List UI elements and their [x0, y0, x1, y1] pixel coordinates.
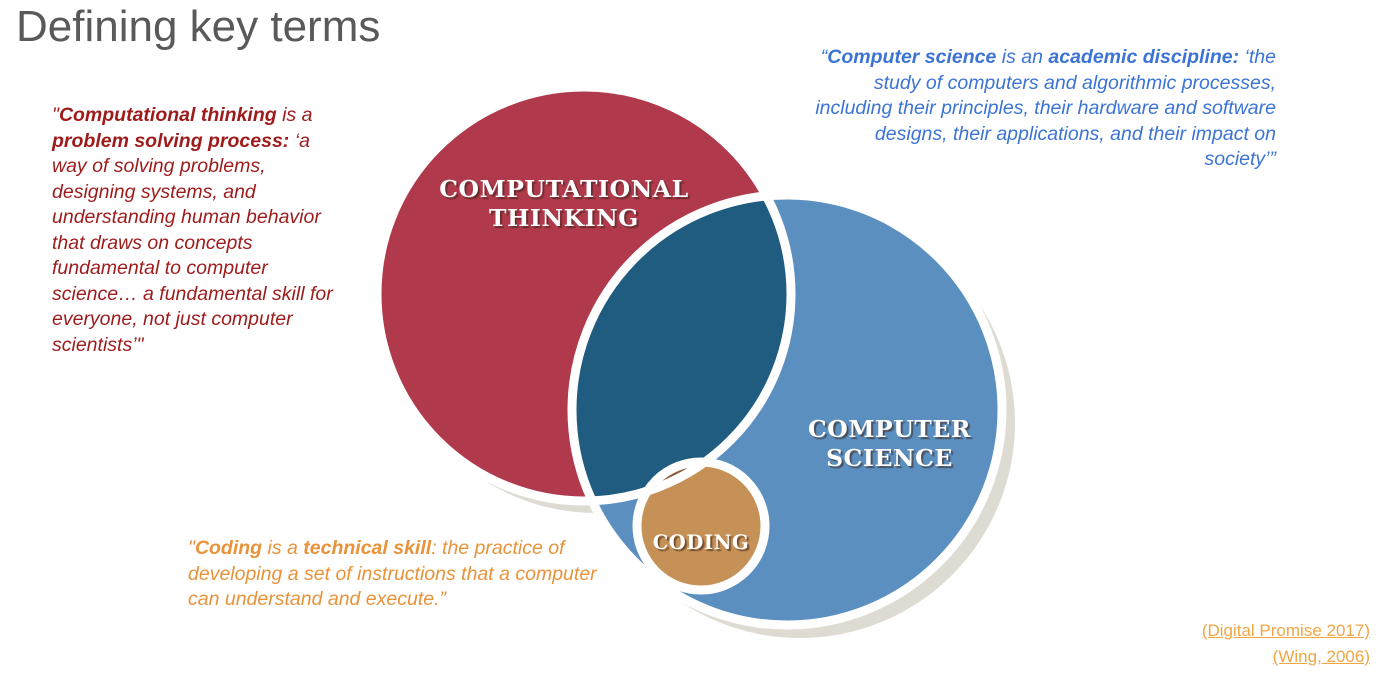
quote-computational-thinking: "Computational thinking is a problem sol…: [52, 103, 340, 358]
quote-cs-bold-term: Computer science: [827, 46, 996, 68]
venn-label-computational-thinking: COMPUTATIONAL THINKING: [389, 175, 739, 232]
citation-list: (Digital Promise 2017) (Wing, 2006): [1202, 618, 1370, 670]
quote-cs-bold-definition: academic discipline:: [1048, 46, 1239, 68]
slide-canvas: Defining key terms: [0, 0, 1384, 676]
citation-link-digital-promise[interactable]: (Digital Promise 2017): [1202, 618, 1370, 644]
quote-coding-bold-term: Coding: [195, 537, 262, 559]
quote-coding: "Coding is a technical skill: the practi…: [188, 536, 608, 613]
citation-link-wing[interactable]: (Wing, 2006): [1202, 644, 1370, 670]
quote-ct-bold-definition: problem solving process:: [52, 130, 289, 152]
quote-ct-body: ‘a way of solving problems, designing sy…: [52, 130, 333, 356]
quote-ct-open-quote: ": [52, 104, 59, 126]
venn-label-computer-science: COMPUTER SCIENCE: [782, 415, 997, 472]
quote-coding-bold-definition: technical skill: [303, 537, 431, 559]
quote-coding-connector: is a: [262, 537, 303, 559]
quote-coding-open-quote: ": [188, 537, 195, 559]
quote-ct-connector: is a: [277, 104, 313, 126]
quote-computer-science: “Computer science is an academic discipl…: [806, 45, 1276, 173]
venn-label-coding: CODING: [630, 531, 772, 555]
quote-cs-connector: is an: [996, 46, 1048, 68]
quote-ct-bold-term: Computational thinking: [59, 104, 277, 126]
